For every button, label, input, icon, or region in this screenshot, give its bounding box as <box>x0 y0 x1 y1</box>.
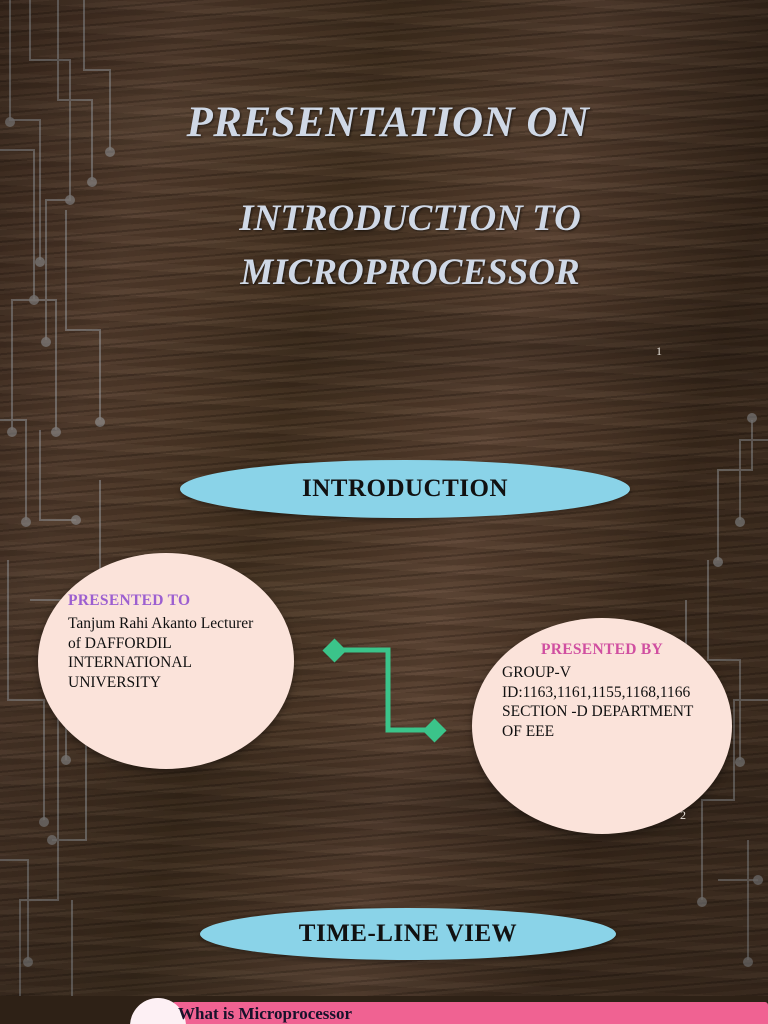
presented-by-heading: PRESENTED BY <box>502 640 702 660</box>
presented-to-heading: PRESENTED TO <box>68 591 264 611</box>
slide-number-1: 1 <box>656 344 662 359</box>
presented-by-body: GROUP-V ID:1163,1161,1155,1168,1166 SECT… <box>502 663 702 742</box>
banner-timeline-view: TIME-LINE VIEW <box>200 908 616 960</box>
next-slide-peek: What is Microprocessor <box>0 996 768 1024</box>
next-slide-heading: What is Microprocessor <box>178 1004 352 1024</box>
connector-arrow <box>318 634 448 754</box>
banner-introduction: INTRODUCTION <box>180 460 630 518</box>
presented-to-oval: PRESENTED TO Tanjum Rahi Akanto Lecturer… <box>38 553 294 769</box>
presentation-title-line2: INTRODUCTION TO MICROPROCESSOR <box>160 192 660 299</box>
presentation-title-line1: PRESENTATION ON <box>118 98 658 147</box>
slide-number-2: 2 <box>680 808 686 823</box>
presented-to-body: Tanjum Rahi Akanto Lecturer of DAFFORDIL… <box>68 614 264 693</box>
presented-by-oval: PRESENTED BY GROUP-V ID:1163,1161,1155,1… <box>472 618 732 834</box>
